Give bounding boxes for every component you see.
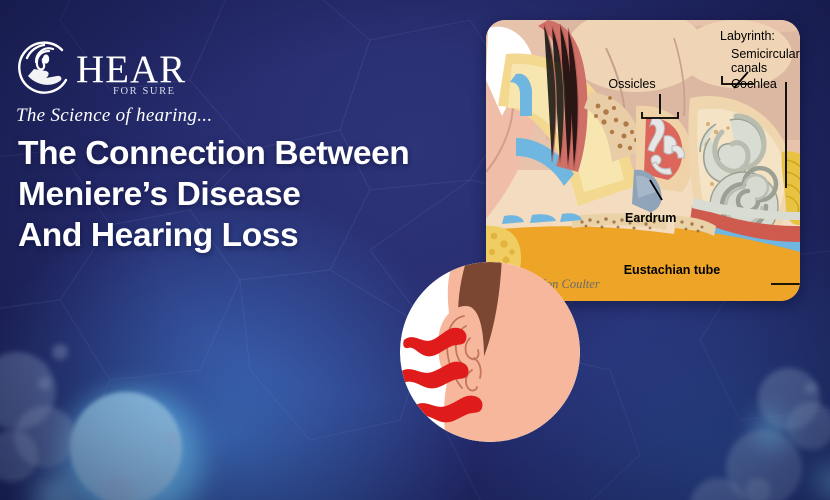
hero-banner: HEAR FOR SURE The Science of hearing... … [0, 0, 830, 500]
label-cochlea: Cochlea [731, 77, 777, 91]
label-eardrum: Eardrum [625, 211, 676, 225]
headline-line-2: Meniere’s Disease [18, 174, 488, 215]
ear-anatomy-diagram: Ossicles Labyrinth: Semicircular canals … [486, 20, 800, 301]
ear-illustration-badge [400, 262, 580, 442]
brand-tagline: The Science of hearing... [16, 105, 212, 127]
head-profile-illustration [400, 262, 580, 442]
label-semicircular: Semicircular [731, 47, 800, 61]
ear-anatomy-illustration: Ossicles Labyrinth: Semicircular canals … [486, 20, 800, 301]
headline-line-1: The Connection Between [18, 133, 488, 174]
label-eustachian: Eustachian tube [624, 263, 721, 277]
label-canals: canals [731, 61, 767, 75]
brand-name: HEAR [76, 50, 186, 89]
page-title: The Connection Between Meniere’s Disease… [18, 133, 488, 256]
hand-holding-ear-icon [16, 40, 78, 98]
label-labyrinth: Labyrinth: [720, 29, 775, 43]
label-ossicles: Ossicles [608, 77, 655, 91]
brand-subtitle: FOR SURE [113, 86, 176, 97]
headline-line-3: And Hearing Loss [18, 215, 488, 256]
